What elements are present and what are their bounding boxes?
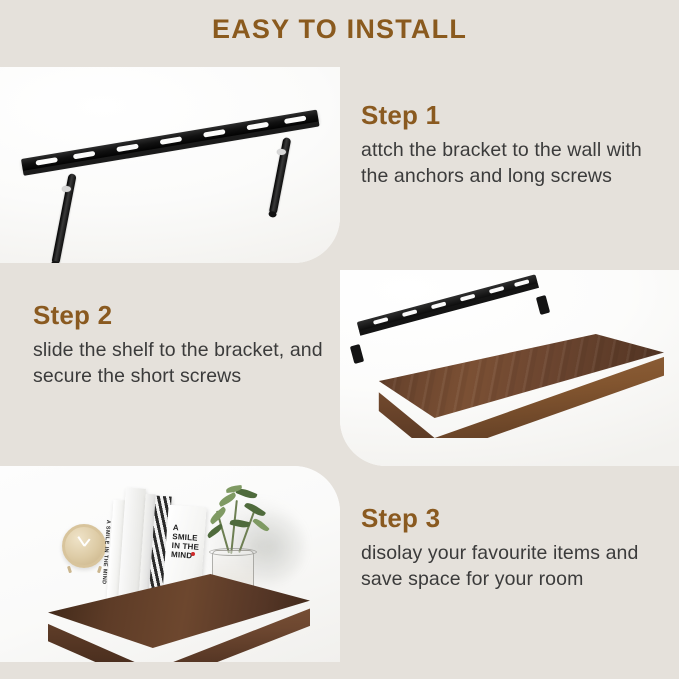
step-1-text-block: Step 1 attch the bracket to the wall wit… bbox=[361, 100, 671, 189]
bracket-slot bbox=[246, 122, 269, 131]
bracket-screw-icon bbox=[277, 149, 286, 155]
infographic-page: EASY TO INSTALL Step 1 attch the bracket… bbox=[0, 0, 679, 679]
step-1-heading: Step 1 bbox=[361, 100, 671, 131]
bracket-slot bbox=[35, 157, 58, 166]
clock-icon bbox=[62, 524, 106, 568]
bracket-slot bbox=[160, 136, 183, 145]
step-3-text-block: Step 3 disolay your favourite items and … bbox=[361, 503, 673, 592]
clock-leg bbox=[67, 566, 72, 574]
page-title: EASY TO INSTALL bbox=[0, 14, 679, 45]
step-2-body: slide the shelf to the bracket, and secu… bbox=[33, 337, 333, 389]
step-1-image-panel bbox=[0, 67, 340, 263]
step-2-image-panel bbox=[340, 270, 679, 466]
step-1-body: attch the bracket to the wall with the a… bbox=[361, 137, 671, 189]
bracket-slot bbox=[402, 309, 418, 317]
step-2-text-block: Step 2 slide the shelf to the bracket, a… bbox=[33, 300, 333, 389]
bracket-slot bbox=[460, 294, 476, 302]
styled-shelf-scene: A SMILE IN THE MIND A SMILE IN THE MIND bbox=[0, 466, 340, 662]
bracket-slot bbox=[431, 302, 447, 310]
bracket-slot bbox=[203, 129, 226, 138]
bracket-end-right-icon bbox=[536, 295, 550, 315]
bracket-slot bbox=[116, 144, 139, 153]
bracket-slot bbox=[284, 116, 307, 125]
step-3-heading: Step 3 bbox=[361, 503, 673, 534]
bracket-slot bbox=[514, 279, 530, 287]
step-2-heading: Step 2 bbox=[33, 300, 333, 331]
glass-jar-rim bbox=[209, 548, 257, 556]
bracket-screw-icon bbox=[62, 186, 71, 192]
shelf-bracket-scene bbox=[340, 270, 679, 466]
bracket-rail-icon bbox=[357, 274, 538, 332]
bracket-slot bbox=[373, 317, 389, 325]
bracket-rail-icon bbox=[21, 110, 319, 172]
bracket-end-left-icon bbox=[350, 344, 364, 364]
bracket-slot bbox=[489, 286, 505, 294]
step-3-image-panel: A SMILE IN THE MIND A SMILE IN THE MIND bbox=[0, 466, 340, 662]
book-cover-text: A SMILE IN THE MIND bbox=[171, 523, 203, 561]
bracket-scene bbox=[0, 67, 340, 263]
bracket-slot bbox=[73, 151, 96, 160]
step-3-body: disolay your favourite items and save sp… bbox=[361, 540, 673, 592]
